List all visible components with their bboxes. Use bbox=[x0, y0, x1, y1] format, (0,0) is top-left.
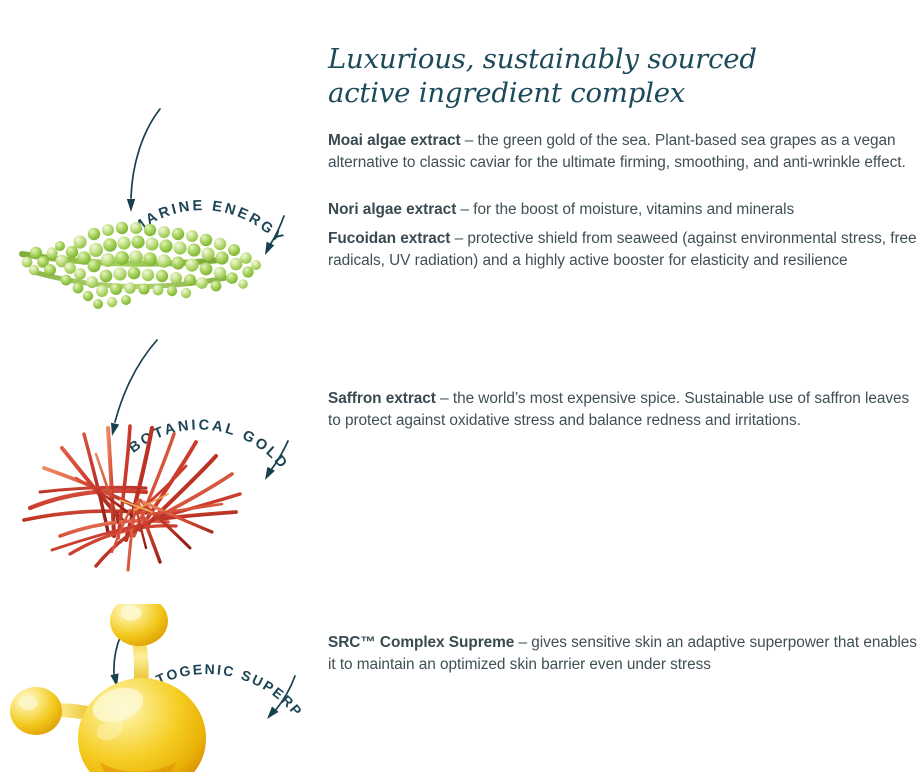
ingredient-paragraph-nori: Nori algae extract – for the boost of mo… bbox=[328, 199, 921, 220]
ingredient-paragraph-saffron: Saffron extract – the world’s most expen… bbox=[328, 388, 921, 430]
page-title-line-1: Luxurious, sustainably sourced bbox=[328, 43, 757, 75]
ingredient-paragraph-moai: Moai algae extract – the green gold of t… bbox=[328, 130, 921, 172]
ingredient-term-nori: Nori algae extract bbox=[328, 201, 456, 218]
sea-grapes-algae-photo bbox=[0, 196, 312, 326]
ingredient-term-fucoidan: Fucoidan extract bbox=[328, 230, 450, 247]
ingredient-term-moai: Moai algae extract bbox=[328, 132, 461, 149]
ingredient-copy-column: Luxurious, sustainably sourced active in… bbox=[328, 0, 923, 772]
ingredient-paragraph-src: SRC™ Complex Supreme – gives sensitive s… bbox=[328, 632, 921, 674]
golden-oil-droplet-molecule-photo bbox=[0, 604, 312, 772]
ingredient-term-src: SRC™ Complex Supreme bbox=[328, 634, 514, 651]
page-title: Luxurious, sustainably sourced active in… bbox=[328, 42, 908, 110]
ingredient-paragraph-fucoidan: Fucoidan extract – protective shield fro… bbox=[328, 228, 921, 270]
saffron-threads-photo bbox=[0, 408, 312, 574]
ingredient-visual-column: MARINE ENERGY bbox=[0, 0, 312, 772]
page-title-line-2: active ingredient complex bbox=[328, 76, 908, 110]
ingredient-term-saffron: Saffron extract bbox=[328, 390, 436, 407]
ingredient-complex-page: MARINE ENERGY bbox=[0, 0, 923, 772]
ingredient-desc-nori: – for the boost of moisture, vitamins an… bbox=[456, 201, 794, 218]
